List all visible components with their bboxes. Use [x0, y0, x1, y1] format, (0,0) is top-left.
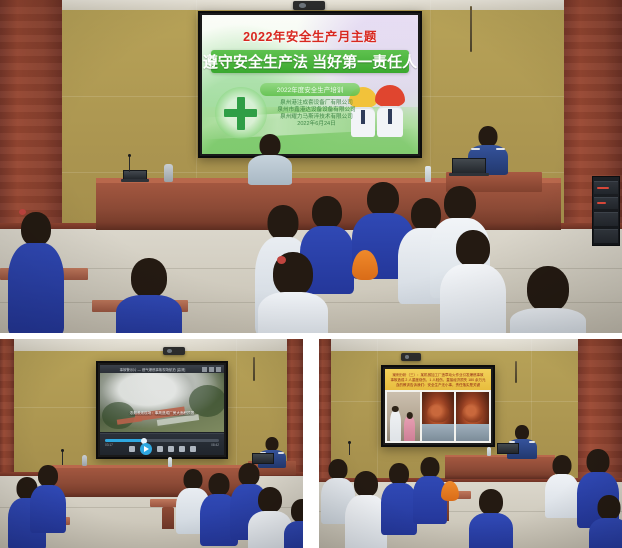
case-banner: 案例分析（三）：某机械加工厂违章动火作业引发爆燃事故 事故造成 2 人重度烧伤、…: [385, 369, 491, 390]
photo-top: 2022年安全生产月主题 遵守安全生产法 当好第一责任人 2022年度安全生产培…: [0, 0, 622, 333]
child-head: [392, 406, 398, 412]
projector: [293, 1, 325, 10]
wall-cable: [253, 357, 255, 381]
projection-screen: 2022年安全生产月主题 遵守安全生产法 当好第一责任人 2022年度安全生产培…: [198, 11, 422, 158]
audience-torso: [381, 483, 417, 535]
burn-wound: [462, 404, 484, 423]
thermos-flask: [164, 164, 173, 182]
rack-unit: [594, 197, 617, 209]
video-player-titlebar[interactable]: 事故警示片 — 燃气爆燃事故现场航拍 [高清]: [100, 365, 224, 373]
audience-person: [440, 230, 506, 333]
audience-torso: [284, 521, 303, 548]
burn-wound: [427, 404, 449, 423]
fullscreen-icon[interactable]: [190, 446, 196, 452]
wall-cable: [470, 6, 472, 52]
audience-torso: [258, 292, 328, 333]
audience-head: [553, 455, 572, 476]
org-line-2: 泉州市鑫港达设备设备有限公司: [258, 107, 375, 114]
hair-tie: [19, 209, 26, 215]
ceiling: [0, 339, 303, 351]
case-photo-burn-1: [422, 392, 455, 441]
video-controls-bar[interactable]: 03:17 08:42: [100, 433, 224, 456]
video-subtitle: 浓烟滚滚现场：事故造成厂房大面积损毁: [115, 411, 209, 416]
child-head: [406, 412, 412, 418]
rack-unit: [594, 229, 617, 243]
audience-head: [527, 266, 569, 312]
audience-torso: [116, 295, 182, 333]
maximize-icon[interactable]: [209, 367, 214, 372]
seek-fill: [105, 439, 144, 442]
audience-head: [131, 258, 167, 298]
case-photo-children: [387, 392, 420, 441]
audience-person: [284, 499, 303, 548]
presenter-head: [260, 134, 281, 157]
ceiling: [319, 339, 622, 351]
audience-head: [38, 465, 58, 487]
rack-unit: [594, 212, 617, 226]
audience-head: [598, 495, 621, 520]
audience-torso: [545, 474, 579, 518]
conference-room-bl: 事故警示片 — 燃气爆燃事故现场航拍 [高清] 浓烟滚滚现场：事故造成厂房大面积…: [0, 339, 303, 548]
collage-gap: [303, 339, 319, 548]
org-line-1: 泉州港注成套设备厂有限公司: [258, 100, 375, 107]
seek-bar[interactable]: [105, 439, 219, 442]
case-photo-burn-2: [456, 392, 489, 441]
bed-sheet: [422, 424, 455, 441]
audience-person: [8, 212, 64, 332]
projector: [401, 353, 421, 361]
audience-head: [354, 471, 378, 497]
window-controls[interactable]: [202, 367, 221, 372]
audience-person: [510, 266, 586, 333]
conference-room-br: 案例分析（三）：某机械加工厂违章动火作业引发爆燃事故 事故造成 2 人重度烧伤、…: [319, 339, 622, 548]
laptop-screen-officer: [497, 443, 519, 454]
microphone-stand: [62, 451, 63, 465]
case-photo-strip: [385, 390, 491, 443]
audience-torso: [589, 518, 622, 548]
slide-subtitle: 2022年度安全生产培训: [277, 84, 343, 94]
audience-head: [587, 449, 610, 474]
officer-head: [479, 126, 498, 147]
playback-buttons[interactable]: [100, 444, 224, 454]
slide-slogan-bar: 遵守安全生产法 当好第一责任人: [211, 50, 410, 74]
laptop-screen-officer: [452, 158, 486, 174]
audience-torso: [413, 476, 447, 524]
laptop-base-officer: [449, 173, 489, 176]
photo-bottom-right: 案例分析（三）：某机械加工厂违章动火作业引发爆燃事故 事故造成 2 人重度烧伤、…: [319, 339, 622, 548]
close-icon[interactable]: [216, 367, 221, 372]
projection-screen: 事故警示片 — 燃气爆燃事故现场航拍 [高清] 浓烟滚滚现场：事故造成厂房大面积…: [96, 361, 228, 459]
water-bottle: [168, 457, 172, 467]
slide-burn-case-study: 案例分析（三）：某机械加工厂违章动火作业引发爆燃事故 事故造成 2 人重度烧伤、…: [385, 369, 491, 443]
audience-person: [545, 455, 579, 515]
audience-torso: [440, 264, 506, 333]
conference-room-top: 2022年安全生产月主题 遵守安全生产法 当好第一责任人 2022年度安全生产培…: [0, 0, 622, 333]
water-bottle: [425, 166, 431, 182]
child-figure: [404, 416, 415, 441]
audience-person: [381, 463, 417, 533]
slide-safety-theme: 2022年安全生产月主题 遵守安全生产法 当好第一责任人 2022年度安全生产培…: [202, 15, 418, 154]
laptop-base-presenter: [121, 179, 149, 182]
audience-head: [258, 487, 282, 513]
play-icon[interactable]: [140, 443, 152, 455]
volume-icon[interactable]: [179, 446, 185, 452]
rack-led: [597, 202, 606, 204]
presenter-torso: [248, 155, 292, 185]
audience-torso: [8, 243, 64, 333]
slide-slogan: 遵守安全生产法 当好第一责任人: [203, 51, 417, 72]
officer-epaulette-left: [471, 148, 480, 150]
worker-figure-red-icon: [375, 85, 405, 138]
audience-person: [116, 258, 182, 333]
bottom-photo-row: 事故警示片 — 燃气爆燃事故现场航拍 [高清] 浓烟滚滚现场：事故造成厂房大面积…: [0, 333, 622, 548]
microphone-head: [348, 441, 351, 444]
slide-org-lines: 泉州港注成套设备厂有限公司 泉州市鑫港达设备设备有限公司 泉州耀力马斯淬技术有限…: [258, 100, 375, 128]
video-canvas[interactable]: 浓烟滚滚现场：事故造成厂房大面积损毁: [100, 373, 224, 432]
org-line-3: 泉州耀力马斯淬技术有限公司: [258, 114, 375, 121]
projection-screen: 案例分析（三）：某机械加工厂违章动火作业引发爆燃事故 事故造成 2 人重度烧伤、…: [381, 365, 495, 447]
av-equipment-rack: [592, 176, 620, 246]
officer-head: [515, 425, 529, 440]
audience-person: [30, 465, 66, 531]
thermos-flask: [82, 455, 87, 466]
minimize-icon[interactable]: [202, 367, 207, 372]
photo-collage: 2022年安全生产月主题 遵守安全生产法 当好第一责任人 2022年度安全生产培…: [0, 0, 622, 548]
presenter-seated: [248, 134, 292, 182]
bed-sheet: [456, 424, 489, 441]
podium-desktop-edge: [445, 455, 555, 457]
podium-desk: [445, 455, 555, 479]
wall-cable: [515, 361, 517, 383]
audience-person: [258, 252, 328, 333]
audience-head: [421, 457, 440, 478]
projector: [163, 347, 185, 355]
audience-head: [456, 230, 490, 267]
officer-epaulette-right: [278, 452, 284, 454]
audience-torso: [510, 308, 586, 333]
slide-subtitle-pill: 2022年度安全生产培训: [260, 83, 359, 96]
audience-head: [389, 463, 409, 485]
audience-head: [268, 205, 299, 240]
org-line-date: 2022年6月24日: [258, 121, 375, 128]
microphone-stand: [349, 443, 350, 455]
audience-head: [291, 499, 303, 523]
audience-head: [444, 186, 476, 221]
water-bottle: [487, 447, 491, 456]
audience-person: [469, 489, 513, 548]
audience-head: [479, 489, 503, 515]
next-icon[interactable]: [157, 446, 163, 452]
stop-icon[interactable]: [168, 446, 174, 452]
child-figure: [390, 410, 401, 441]
slide-theme-year: 2022年安全生产月主题: [202, 26, 418, 45]
rack-unit: [594, 181, 617, 194]
audience-head: [312, 196, 342, 229]
audience-head: [239, 463, 260, 486]
rack-led: [597, 187, 609, 189]
audience-head: [21, 212, 51, 246]
case-line-3: 血的教训告诉我们：安全生产无小事，责任落实是关键: [388, 383, 488, 388]
video-window-title: 事故警示片 — 燃气爆燃事故现场航拍 [高清]: [103, 367, 202, 372]
audience-torso: [469, 513, 513, 548]
microphone-stand: [129, 156, 130, 172]
audience-head: [367, 182, 399, 216]
officer-epaulette-right: [529, 441, 535, 443]
audience-head: [209, 473, 230, 496]
audience-torso: [30, 485, 66, 533]
audience-person: [589, 495, 622, 548]
audience-chair: [162, 507, 174, 529]
officer-head: [266, 437, 279, 451]
previous-icon[interactable]: [129, 446, 135, 452]
case-line-2: 事故造成 2 人重度烧伤、1 人轻伤，直接经济损失 180 余万元: [388, 378, 488, 383]
photo-bottom-left: 事故警示片 — 燃气爆燃事故现场航拍 [高清] 浓烟滚滚现场：事故造成厂房大面积…: [0, 339, 303, 548]
slide-accident-video: 事故警示片 — 燃气爆燃事故现场航拍 [高清] 浓烟滚滚现场：事故造成厂房大面积…: [100, 365, 224, 455]
officer-epaulette-right: [496, 148, 505, 150]
microphone-head: [128, 154, 131, 157]
hair-tie: [277, 256, 286, 264]
microphone-head: [61, 449, 64, 452]
